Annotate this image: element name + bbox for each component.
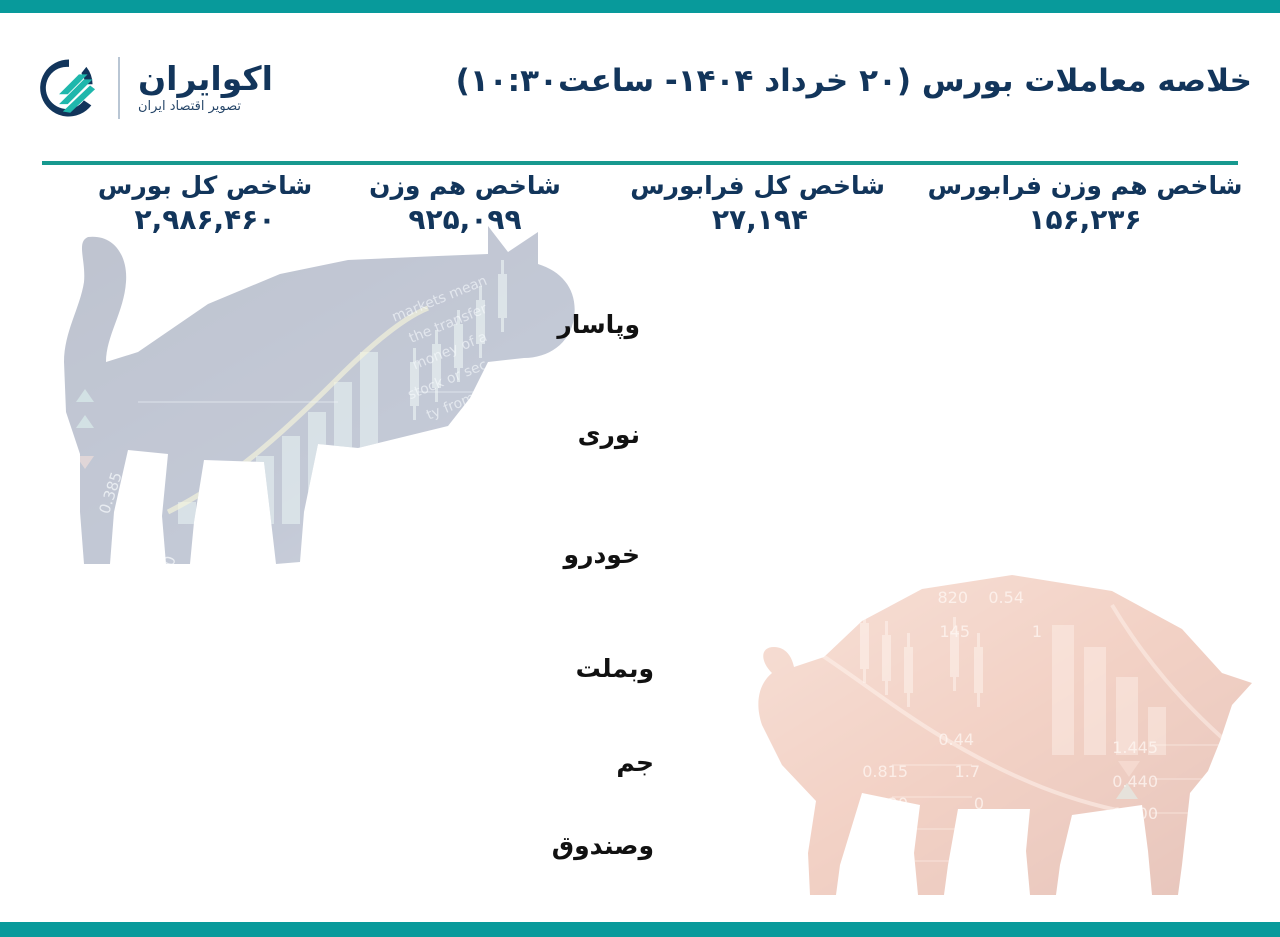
logo-divider (118, 57, 120, 119)
impact-bar-chart: وپاسار نوری خودرو (0, 260, 1280, 910)
bar-label: خودرو (564, 542, 640, 567)
stat-farabourse-total-index: شاخص کل فرابورس ۲۷,۱۹۴ (635, 170, 885, 238)
bar-label: نوری (578, 422, 640, 447)
brand-text: اکوایران تصویر اقتصاد ایران (138, 62, 273, 115)
stat-farabourse-equal-weight-index: شاخص هم وزن فرابورس ۱۵۶,۲۳۶ (915, 170, 1255, 238)
header: خلاصه معاملات بورس (۲۰ خرداد ۱۴۰۴- ساعت۱… (0, 13, 1280, 148)
stat-value: ۲,۹۸۶,۴۶۰ (90, 202, 320, 238)
stat-label: شاخص کل فرابورس (635, 170, 885, 202)
top-accent-bar (0, 0, 1280, 13)
eco-iran-swoosh-logo-icon (38, 57, 100, 119)
stat-equal-weight-index: شاخص هم وزن ۹۲۵,۰۹۹ (350, 170, 580, 238)
bar-label: وپاسار (557, 312, 640, 337)
index-stats-row: شاخص کل بورس ۲,۹۸۶,۴۶۰ شاخص هم وزن ۹۲۵,۰… (0, 170, 1280, 260)
bar-label: جم (616, 750, 654, 775)
stat-label: شاخص هم وزن فرابورس (915, 170, 1255, 202)
bar-label: وصندوق (552, 833, 654, 858)
brand-name: اکوایران (138, 62, 273, 97)
stat-total-index: شاخص کل بورس ۲,۹۸۶,۴۶۰ (90, 170, 320, 238)
page-title: خلاصه معاملات بورس (۲۰ خرداد ۱۴۰۴- ساعت۱… (456, 63, 1252, 99)
stat-value: ۱۵۶,۲۳۶ (915, 202, 1255, 238)
stat-label: شاخص هم وزن (350, 170, 580, 202)
stat-label: شاخص کل بورس (90, 170, 320, 202)
stat-value: ۲۷,۱۹۴ (635, 202, 885, 238)
brand-logo[interactable]: اکوایران تصویر اقتصاد ایران (38, 57, 273, 119)
bottom-accent-bar (0, 922, 1280, 937)
bar-label: وبملت (576, 656, 654, 681)
brand-tagline: تصویر اقتصاد ایران (138, 99, 241, 114)
stat-value: ۹۲۵,۰۹۹ (350, 202, 580, 238)
header-divider (42, 161, 1238, 165)
